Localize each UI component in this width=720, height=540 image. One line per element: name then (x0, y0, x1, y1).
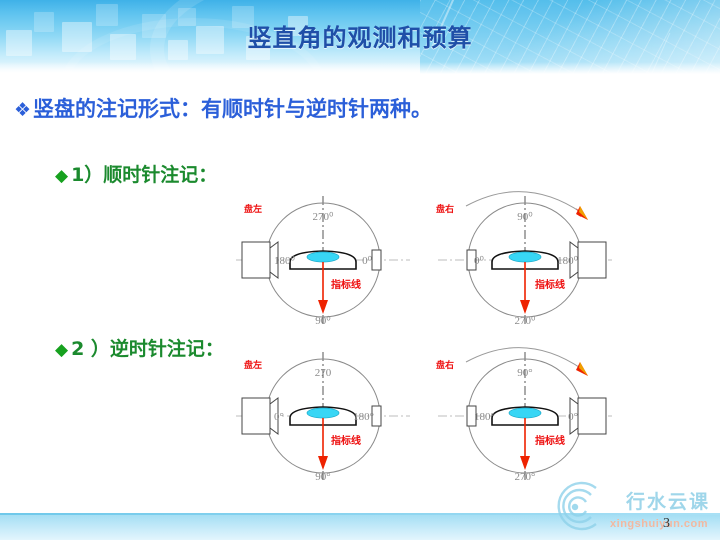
vertical-circle-diagram-counterclockwise-face-left: 270 90° 180° 0° 指标线 盘左 (228, 346, 418, 486)
level2-bullet-text: 2 ）逆时针注记： (71, 338, 224, 360)
degree-label-bottom: 90⁰ (315, 315, 331, 327)
plate-position-label: 盘左 (244, 358, 262, 371)
degree-label-right: 180⁰ (557, 255, 579, 267)
degree-label-bottom: 270⁰ (515, 315, 537, 327)
level1-bullet-line: ❖竖盘的注记形式：有顺时针与逆时针两种。 (14, 93, 432, 123)
index-line-label: 指标线 (331, 278, 361, 291)
level-vial-bubble (509, 408, 541, 418)
degree-label-top: 270⁰ (313, 211, 335, 223)
degree-label-left: 180⁰ (274, 255, 296, 267)
vertical-circle-diagram-clockwise-face-left: 270⁰ 90⁰ 0⁰ 180⁰ 指标线 盘左 (228, 190, 418, 330)
telescope-eyepiece-left (242, 242, 278, 278)
telescope-eyepiece-left (242, 398, 278, 434)
filled-diamond-bullet-icon: ◆ (55, 166, 68, 186)
degree-label-right: 0⁰ (362, 255, 373, 267)
page-number: 3 (663, 516, 670, 532)
level2-bullet-text: 1）顺时针注记： (71, 164, 217, 186)
degree-label-right: 0° (568, 411, 578, 423)
index-line-arrow-head (520, 456, 530, 470)
degree-label-right: 180° (353, 411, 374, 423)
plate-position-label: 盘左 (244, 202, 262, 215)
brand-swirl-icon (546, 478, 602, 534)
plate-position-label: 盘右 (436, 358, 454, 371)
vertical-circle-diagram-counterclockwise-face-right: 90° 270° 0° 180° 指标线 盘右 (430, 344, 620, 484)
degree-label-bottom: 90° (315, 471, 330, 483)
index-line-arrow-head (318, 300, 328, 314)
filled-diamond-bullet-icon: ◆ (55, 340, 68, 360)
index-line-label: 指标线 (331, 434, 361, 447)
header-fade-divider (0, 62, 720, 78)
degree-label-left: 180° (474, 411, 495, 423)
degree-label-bottom: 270° (515, 471, 536, 483)
level2-bullet-clockwise: ◆1）顺时针注记： (55, 160, 217, 187)
index-line-label: 指标线 (535, 278, 565, 291)
degree-label-left: 0⁰ (474, 255, 485, 267)
degree-label-top: 270 (315, 367, 332, 379)
brand-swirl-dot (572, 504, 578, 510)
index-line-arrow-head (520, 300, 530, 314)
degree-label-top: 90⁰ (517, 211, 533, 223)
diamond-bullet-icon: ❖ (14, 99, 31, 121)
level-vial-bubble (307, 408, 339, 418)
index-line-label: 指标线 (535, 434, 565, 447)
watermark-brand: 行水云课 (626, 487, 710, 514)
level1-bullet-text: 竖盘的注记形式：有顺时针与逆时针两种。 (33, 97, 432, 121)
level2-bullet-counterclockwise: ◆2 ）逆时针注记： (55, 334, 224, 361)
telescope-objective-right (372, 250, 381, 270)
page-title: 竖直角的观测和预算 (0, 18, 720, 53)
degree-label-left: 0° (274, 411, 284, 423)
watermark-url: xingshuiyun.com (610, 518, 708, 530)
plate-position-label: 盘右 (436, 202, 454, 215)
degree-label-top: 90° (517, 367, 532, 379)
index-line-arrow-head (318, 456, 328, 470)
vertical-circle-diagram-clockwise-face-right: 90⁰ 270⁰ 180⁰ 0⁰ 指标线 盘右 (430, 188, 620, 328)
level-vial-bubble (509, 252, 541, 262)
level-vial-bubble (307, 252, 339, 262)
